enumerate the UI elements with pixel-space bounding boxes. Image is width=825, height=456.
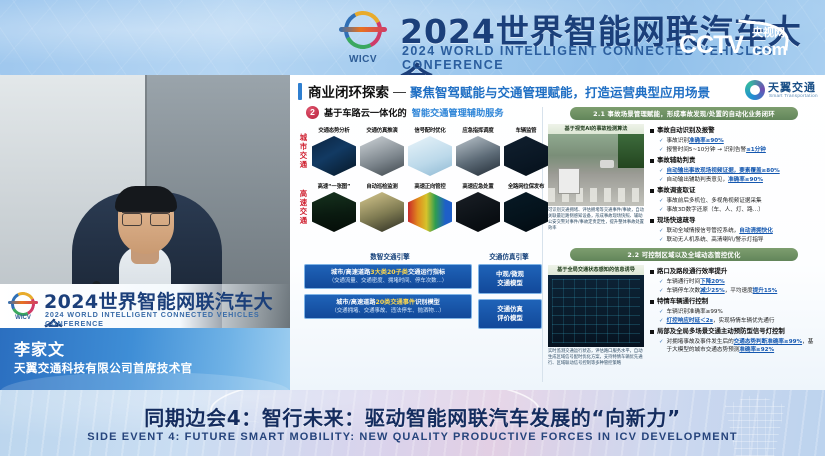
sub-highlight: 下降20% [700, 279, 725, 285]
scenario-caption: 车辆监管 [504, 127, 548, 135]
engine-box-line1: 中观/微观 [482, 270, 538, 279]
check-icon: ✓ [659, 308, 664, 316]
left-heading-plain: 基于车路云一体化的 [324, 105, 407, 119]
section-bullet-list: 路口及路段通行效率提升 ✓ 车辆通行时间下降20% ✓ 车辆停车次数减少25%，… [650, 265, 818, 367]
bullet-sub-label: 联动全域情报信号管控系统，自动清拥快化 [667, 227, 773, 235]
scenario-thumbnail [360, 192, 404, 232]
sub-post: ，实现特情车辆优先通行 [713, 318, 775, 324]
scenario-tile[interactable]: 信号配时优化 [408, 127, 452, 176]
scenario-tile[interactable]: 高速“一张图” [312, 183, 356, 232]
slide-left-column: 2 基于车路云一体化的 智能交通管理辅助服务 城市交通 交通态势分析 交通仿真推… [296, 105, 540, 385]
bullet-group: 事故调查取证 ✓ 事故前后多机位、多视角视频证据采集 ✓ 事故3D数字还原（车、… [650, 186, 818, 214]
scenario-caption: 高速“一张图” [312, 183, 356, 191]
sub-post: ，平均速度 [725, 288, 753, 294]
left-heading-accent: 智能交通管理辅助服务 [412, 105, 504, 119]
screen: WICV 2024世界智能网联汽车大会 2024 WORLD INTELLIGE… [0, 0, 825, 456]
wicv-mini-label: WICV [8, 315, 38, 321]
bullet-sub: ✓ 事故识别准确率≥90% [659, 137, 818, 145]
lower-third-brand-en: 2024 WORLD INTELLIGENT CONNECTED VEHICLE… [45, 310, 290, 328]
bullet-square-icon [650, 219, 654, 223]
scenario-thumbnail [312, 136, 356, 176]
bullet-main: 路口及路段通行效率提升 [650, 267, 818, 276]
road-roadside-trees [618, 134, 644, 168]
section-pill-label: 2.2 可控制区域以及全域动态管控优化 [627, 250, 740, 259]
scenario-thumbnail [360, 136, 404, 176]
scenario-caption: 应急指挥调度 [456, 127, 500, 135]
bullet-main-label: 局部及全局多场景交通主动预防型信号灯控制 [657, 327, 785, 336]
thumbnail-subcaption: 可识别交通拥堵、评估拥堵等交通事件/事故，自动关联最近路侧感知设备，形成事故现场… [548, 208, 644, 232]
wicv-bar-shape [339, 27, 387, 32]
engine-box-line1-pre: 城市/高速道路 [336, 299, 375, 306]
tianyi-glyph-icon [745, 80, 765, 100]
sub-pre: 报警时间5~10分钟 → 识别告警 [667, 147, 747, 153]
bullet-sub: ✓ 联动全域情报信号管控系统，自动清拥快化 [659, 227, 818, 235]
bullet-square-icon [650, 189, 654, 193]
scenario-thumbnail [456, 192, 500, 232]
bullet-sub: ✓ 灯控响应时延＜2s，实现特情车辆优先通行 [659, 317, 818, 325]
engine-box-line1-post: 识别模型 [415, 299, 440, 306]
scenario-tile[interactable]: 车辆监管 [504, 127, 548, 176]
scenario-tile[interactable]: 高速正向管控 [408, 183, 452, 232]
sub-pre: 自动输出辅助判责意见， [667, 177, 729, 183]
section-bullet-list: 事故自动识别及报警 ✓ 事故识别准确率≥90% ✓ 报警时间5~10分钟 → 识… [650, 124, 818, 244]
bullet-sub: ✓ 车辆通行时间下降20% [659, 278, 818, 286]
engine-box[interactable]: 交通仿真 评价模型 [478, 299, 542, 329]
speaker-hair [115, 186, 177, 212]
scenario-tile[interactable]: 应急指挥调度 [456, 127, 500, 176]
check-icon: ✓ [659, 317, 664, 325]
bullet-main: 事故辅助判责 [650, 156, 818, 165]
scenario-thumbnail [408, 192, 452, 232]
check-icon: ✓ [659, 137, 664, 145]
conference-header-banner: WICV 2024世界智能网联汽车大会 2024 WORLD INTELLIGE… [0, 0, 825, 75]
bullet-sub-label: 对拥堵事故及事件发生后的交通态势判断准确率≥99%，基于大模型的城市交通态势预测… [667, 338, 818, 354]
check-icon: ✓ [659, 278, 664, 286]
engine-left-boxes: 城市/高速道路3大类20子类交通运行指标 （交通流量、交通密度、拥堵时间、停车次… [304, 264, 472, 329]
cctv-wordmark: CCTV [679, 31, 743, 60]
sub-highlight: 自动清拥快化 [739, 228, 773, 234]
bullet-sub: ✓ 事故3D数字还原（车、人、灯、路…） [659, 206, 818, 214]
road-car-1 [600, 160, 614, 168]
sub-highlight-2: 提升15% [753, 288, 778, 294]
scenario-caption: 高速正向管控 [408, 183, 452, 191]
bullet-sub-label: 车辆停车次数减少25%，平均速度提升15% [667, 287, 778, 295]
scenario-thumbnail [312, 192, 356, 232]
slide-section-2-2: 2.2 可控制区域以及全域动态管控优化 基于全局交通状态感知的信息诱导 实时监测… [548, 248, 820, 367]
section-pill-label: 2.1 事故场景管理赋能，形成事故发现/处置的自动化业务闭环 [593, 109, 775, 118]
bullet-main-label: 事故调查取证 [657, 186, 695, 195]
slide-right-column: 2.1 事故场景管理赋能，形成事故发现/处置的自动化业务闭环 基于视觉AI的事故… [548, 105, 820, 387]
bullet-main-label: 事故自动识别及报警 [657, 126, 715, 135]
hex-row-urban: 交通态势分析 交通仿真推演 信号配时优化 应急指挥调度 [312, 127, 548, 176]
bullet-main-label: 现场快速疏导 [657, 216, 695, 225]
scenario-caption: 信号配时优化 [408, 127, 452, 135]
scenario-tile[interactable]: 交通态势分析 [312, 127, 356, 176]
bullet-sub: ✓ 联动无人机系统、高清喇叭/警示灯指导 [659, 236, 818, 244]
check-icon: ✓ [659, 287, 664, 295]
section-pill: 2.2 可控制区域以及全域动态管控优化 [570, 248, 798, 261]
group-label-highway: 高速交通 [298, 189, 309, 225]
bullet-main-label: 路口及路段通行效率提升 [657, 267, 727, 276]
section-thumbnail-block: 基于全局交通状态感知的信息诱导 实时监测交通运行状态，评估路口服务水平，自动生成… [548, 265, 644, 367]
check-icon: ✓ [659, 338, 664, 346]
scenario-caption: 全路网位保发布 [504, 183, 548, 191]
slide-title-accent-bar [298, 83, 302, 100]
cctv-logo: CCTV 央视网 com [679, 22, 807, 62]
sub-highlight: 自动输出事故现场视频证据，要素覆盖≥80% [667, 168, 780, 174]
bullet-sub-label: 车辆通行时间下降20% [667, 278, 725, 286]
sub-highlight: 准确率≥90% [689, 138, 724, 144]
bullet-group: 路口及路段通行效率提升 ✓ 车辆通行时间下降20% ✓ 车辆停车次数减少25%，… [650, 267, 818, 295]
scenario-thumbnail [504, 192, 548, 232]
check-icon: ✓ [659, 146, 664, 154]
bullet-main: 事故自动识别及报警 [650, 126, 818, 135]
section-number-badge: 2 [306, 106, 319, 119]
cctv-cn-label: 央视网 [752, 24, 785, 40]
thumbnail-caption: 基于视觉AI的事故检测算法 [548, 124, 644, 134]
hex-row-highway: 高速“一张图” 自动巡检监测 高速正向管控 高速应急处置 [312, 183, 548, 232]
engine-box[interactable]: 城市/高速道路20类交通事件识别模型 （交通拥堵、交通事故、违法停车、抛洒物…） [304, 294, 472, 319]
sub-highlight: ≤1分钟 [746, 147, 766, 153]
sub-highlight: 准确率≥90% [728, 177, 763, 183]
engine-box-line1: 城市/高速道路20类交通事件识别模型 [309, 298, 467, 307]
speaker-name: 李家文 [14, 336, 65, 360]
sub-pre: 对拥堵事故及事件发生后的 [667, 339, 734, 345]
check-icon: ✓ [659, 176, 664, 184]
sub-highlight-2: 准确率≥92% [739, 347, 774, 353]
scenario-thumbnail [504, 136, 548, 176]
lower-third-brand-plate: WICV 2024世界智能网联汽车大会 2024 WORLD INTELLIGE… [0, 284, 290, 328]
bullet-sub-label: 自动输出事故现场视频证据，要素覆盖≥80% [667, 167, 780, 175]
engine-box-line1-post: 交通运行指标 [408, 269, 445, 276]
bullet-sub: ✓ 对拥堵事故及事件发生后的交通态势判断准确率≥99%，基于大模型的城市交通态势… [659, 338, 818, 354]
check-icon: ✓ [659, 167, 664, 175]
bullet-main-label: 特情车辆通行控制 [657, 297, 708, 306]
engine-headings: 数智交通引擎 交通仿真引擎 [304, 251, 542, 261]
sub-highlight: 交通态势判断准确率≥99% [734, 339, 802, 345]
wicv-logo-icon: WICV [336, 8, 394, 70]
speaker-job-title: 天翼交通科技有限公司首席技术官 [14, 360, 193, 376]
sub-pre: 事故识别 [667, 138, 689, 144]
engine-box-line1: 城市/高速道路3大类20子类交通运行指标 [309, 268, 467, 277]
bullet-group: 事故辅助判责 ✓ 自动输出事故现场视频证据，要素覆盖≥80% ✓ 自动输出辅助判… [650, 156, 818, 184]
engine-box-line1-pre: 城市/高速道路 [331, 269, 370, 276]
engine-section: 数智交通引擎 交通仿真引擎 城市/高速道路3大类20子类交通运行指标 （交通流量… [304, 251, 542, 329]
scenario-caption: 自动巡检监测 [360, 183, 404, 191]
sub-pre: 车辆停车次数 [667, 288, 701, 294]
wicv-mini-bar-shape [8, 301, 38, 304]
section-pill: 2.1 事故场景管理赋能，形成事故发现/处置的自动化业务闭环 [570, 107, 798, 120]
bullet-main: 特情车辆通行控制 [650, 297, 818, 306]
check-icon: ✓ [659, 236, 664, 244]
thumbnail-caption: 基于全局交通状态感知的信息诱导 [548, 265, 644, 275]
thumbnail-image-control-room [548, 275, 644, 347]
scenario-tile[interactable]: 交通仿真推演 [360, 127, 404, 176]
slide-section-2-1: 2.1 事故场景管理赋能，形成事故发现/处置的自动化业务闭环 基于视觉AI的事故… [548, 107, 820, 244]
bullet-sub-label: 联动无人机系统、高清喇叭/警示灯指导 [667, 236, 764, 244]
engine-box-line1-highlight: 3大类20子类 [370, 269, 408, 276]
bullet-square-icon [650, 330, 654, 334]
tianyi-logo-en: Smart Transportation [769, 93, 818, 98]
bullet-square-icon [650, 270, 654, 274]
scenario-thumbnail [408, 136, 452, 176]
engine-box-line2: 交通模型 [482, 279, 538, 288]
footer-title-en: SIDE EVENT 4: FUTURE SMART MOBILITY: NEW… [0, 431, 825, 443]
engine-right-boxes: 中观/微观 交通模型 交通仿真 评价模型 [478, 264, 542, 329]
bullet-square-icon [650, 159, 654, 163]
engine-box[interactable]: 城市/高速道路3大类20子类交通运行指标 （交通流量、交通密度、拥堵时间、停车次… [304, 264, 472, 289]
bullet-main: 局部及全局多场景交通主动预防型信号灯控制 [650, 327, 818, 336]
sub-highlight: 灯控响应时延＜2s [667, 318, 713, 324]
bullet-sub: ✓ 报警时间5~10分钟 → 识别告警≤1分钟 [659, 146, 818, 154]
engine-body: 城市/高速道路3大类20子类交通运行指标 （交通流量、交通密度、拥堵时间、停车次… [304, 264, 542, 329]
presentation-slide: 商业闭环探索 — 聚焦智驾赋能与交通管理赋能，打造运营典型应用场景 天翼交通 S… [290, 75, 825, 390]
engine-box-line1: 交通仿真 [482, 305, 538, 314]
section-body: 基于全局交通状态感知的信息诱导 实时监测交通运行状态，评估路口服务水平，自动生成… [548, 265, 820, 367]
engine-box-line2: （交通流量、交通密度、拥堵时间、停车次数…） [309, 277, 467, 285]
sub-pre: 联动全域情报信号管控系统， [667, 228, 740, 234]
bullet-group: 局部及全局多场景交通主动预防型信号灯控制 ✓ 对拥堵事故及事件发生后的交通态势判… [650, 327, 818, 354]
bullet-square-icon [650, 300, 654, 304]
thumbnail-subcaption: 实时监测交通运行状态，评估路口服务水平，自动生成区域信号配时优化方案，支持特情车… [548, 349, 644, 367]
slide-title-main: 商业闭环探索 [308, 81, 389, 101]
slide-title-sub: 聚焦智驾赋能与交通管理赋能，打造运营典型应用场景 [410, 82, 710, 101]
group-label-urban: 城市交通 [298, 133, 309, 169]
scenario-caption: 交通仿真推演 [360, 127, 404, 135]
scenario-caption: 交通态势分析 [312, 127, 356, 135]
bullet-group: 事故自动识别及报警 ✓ 事故识别准确率≥90% ✓ 报警时间5~10分钟 → 识… [650, 126, 818, 154]
slide-title-bar: 商业闭环探索 — 聚焦智驾赋能与交通管理赋能，打造运营典型应用场景 [298, 81, 817, 101]
bullet-group: 现场快速疏导 ✓ 联动全域情报信号管控系统，自动清拥快化 ✓ 联动无人机系统、高… [650, 216, 818, 244]
scenario-caption: 高速应急处置 [456, 183, 500, 191]
slide-title-dash: — [393, 84, 406, 99]
section-thumbnail-block: 基于视觉AI的事故检测算法 可识别交通拥堵、评估拥堵等交通事件/事故，自动关联最… [548, 124, 644, 244]
sub-highlight: 减少25% [700, 288, 725, 294]
bullet-square-icon [650, 129, 654, 133]
speaker-name-plate: 李家文 天翼交通科技有限公司首席技术官 [0, 328, 290, 390]
left-heading-row: 2 基于车路云一体化的 智能交通管理辅助服务 [306, 105, 540, 119]
bullet-main: 事故调查取证 [650, 186, 818, 195]
bullet-sub-label: 事故识别准确率≥90% [667, 137, 724, 145]
bullet-sub-label: 事故3D数字还原（车、人、灯、路…） [667, 206, 764, 214]
bullet-sub: ✓ 车辆识别准确率≥99% [659, 308, 818, 316]
engine-box-line2: 评价模型 [482, 314, 538, 323]
engine-box-line1-highlight: 20类交通事件 [376, 299, 416, 306]
bullet-sub-label: 事故前后多机位、多视角视频证据采集 [667, 197, 762, 205]
sub-pre: 车辆通行时间 [667, 279, 701, 285]
side-event-footer-banner: 同期边会4：智行未来：驱动智能网联汽车发展的“向新力” SIDE EVENT 4… [0, 390, 825, 456]
thumbnail-image-road [548, 134, 644, 206]
check-icon: ✓ [659, 197, 664, 205]
tianyi-transportation-logo: 天翼交通 Smart Transportation [745, 78, 821, 102]
bullet-sub-label: 自动输出辅助判责意见，准确率≥90% [667, 176, 763, 184]
scenario-thumbnail [456, 136, 500, 176]
bullet-group: 特情车辆通行控制 ✓ 车辆识别准确率≥99% ✓ 灯控响应时延＜2s，实现特情车… [650, 297, 818, 325]
bullet-sub-label: 报警时间5~10分钟 → 识别告警≤1分钟 [667, 146, 766, 154]
engine-box[interactable]: 中观/微观 交通模型 [478, 264, 542, 294]
road-truck [558, 168, 580, 194]
check-icon: ✓ [659, 227, 664, 235]
bullet-main-label: 事故辅助判责 [657, 156, 695, 165]
footer-title-cn: 同期边会4：智行未来：驱动智能网联汽车发展的“向新力” [0, 402, 825, 431]
engine-box-line2: （交通拥堵、交通事故、违法停车、抛洒物…） [309, 307, 467, 315]
engine-heading-sim: 交通仿真引擎 [476, 251, 542, 261]
cctv-domain-label: com [752, 40, 787, 60]
engine-heading-data: 数智交通引擎 [304, 251, 476, 261]
check-icon: ✓ [659, 206, 664, 214]
wicv-logo-label: WICV [336, 54, 390, 65]
section-body: 基于视觉AI的事故检测算法 可识别交通拥堵、评估拥堵等交通事件/事故，自动关联最… [548, 124, 820, 244]
speaker-glasses [122, 211, 170, 222]
scenario-tile[interactable]: 自动巡检监测 [360, 183, 404, 232]
bullet-sub-label: 车辆识别准确率≥99% [667, 308, 723, 316]
scenario-tile[interactable]: 高速应急处置 [456, 183, 500, 232]
bullet-sub-label: 灯控响应时延＜2s，实现特情车辆优先通行 [667, 317, 775, 325]
control-room-screens [552, 279, 640, 343]
bullet-sub: ✓ 自动输出事故现场视频证据，要素覆盖≥80% [659, 167, 818, 175]
broadcast-main-area: WICV 2024世界智能网联汽车大会 2024 WORLD INTELLIGE… [0, 75, 825, 390]
bullet-sub: ✓ 事故前后多机位、多视角视频证据采集 [659, 197, 818, 205]
bullet-main: 现场快速疏导 [650, 216, 818, 225]
bullet-sub: ✓ 车辆停车次数减少25%，平均速度提升15% [659, 287, 818, 295]
scenario-tile[interactable]: 全路网位保发布 [504, 183, 548, 232]
bullet-sub: ✓ 自动输出辅助判责意见，准确率≥90% [659, 176, 818, 184]
wicv-mini-logo-icon: WICV [8, 290, 40, 324]
